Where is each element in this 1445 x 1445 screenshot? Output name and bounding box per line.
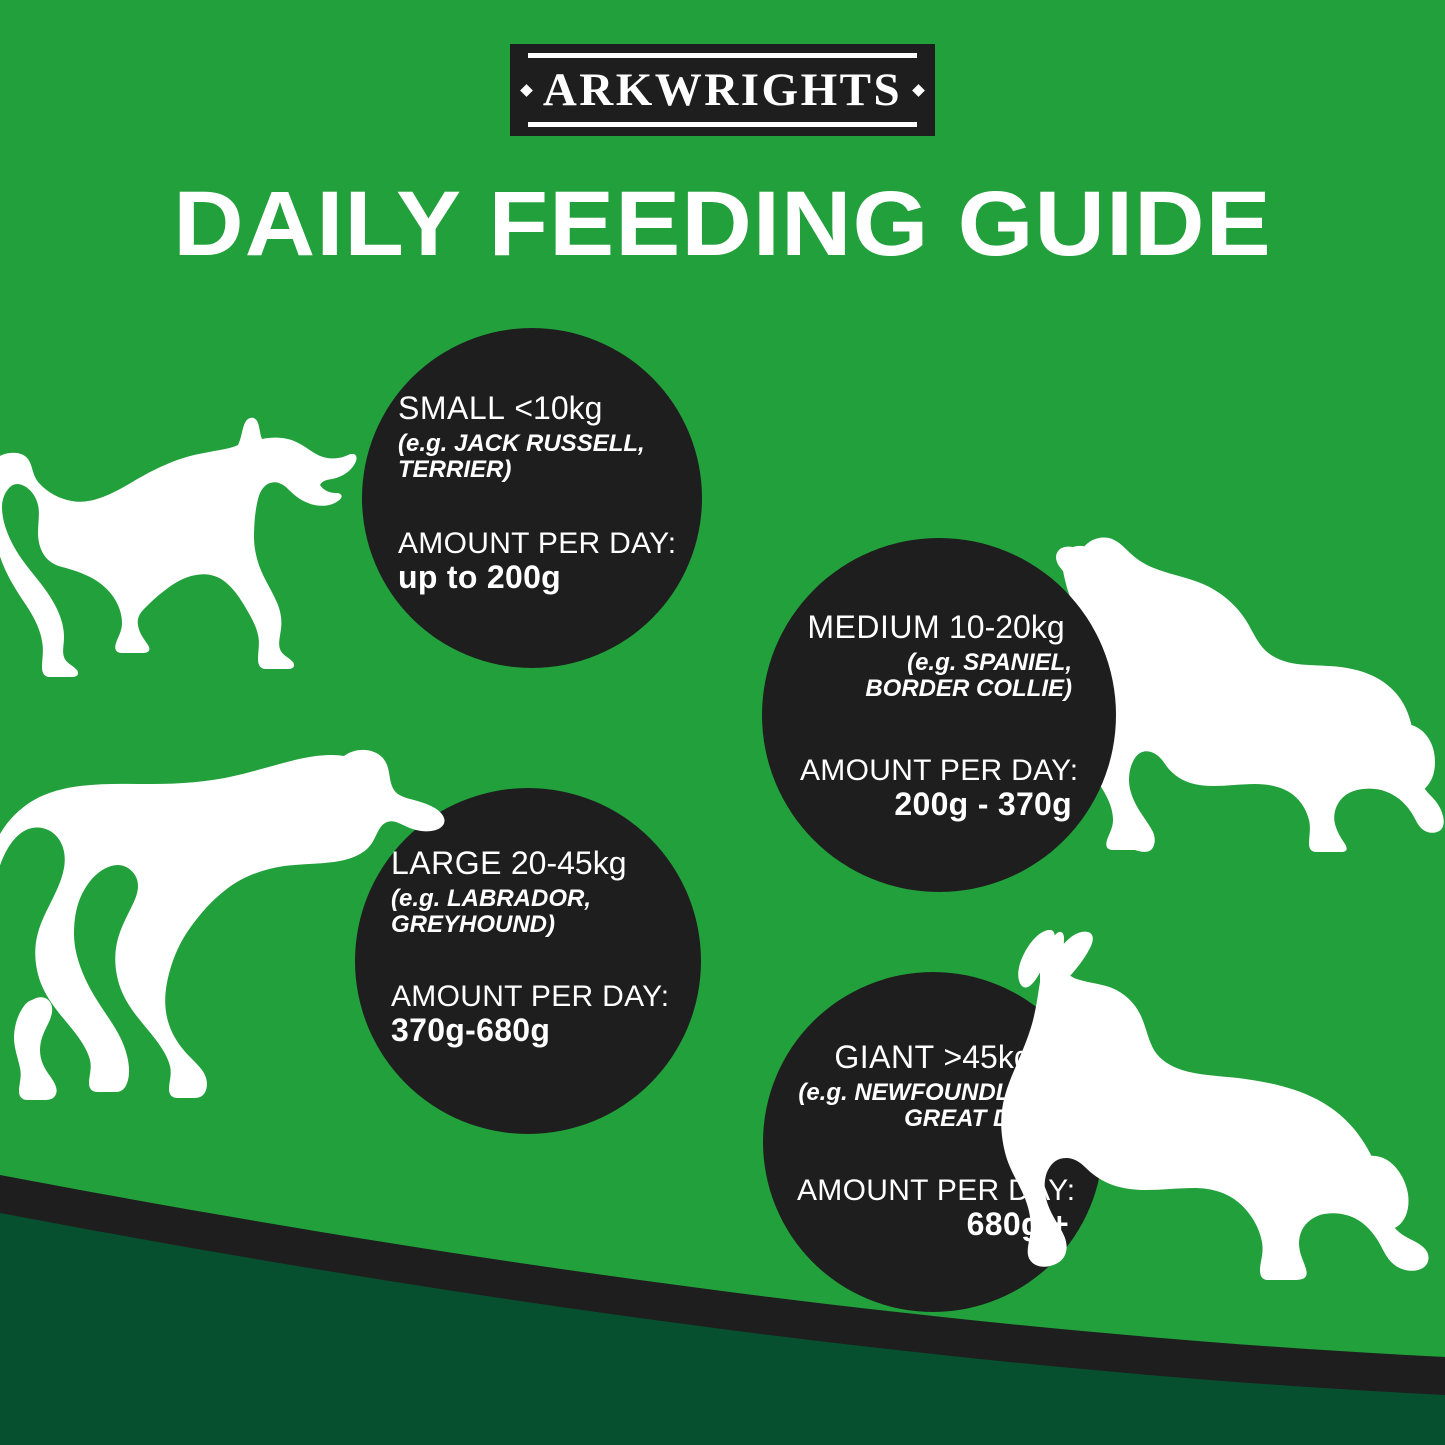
size-category-medium: MEDIUM 10-20kg (e.g. SPANIEL, BORDER COL… [762,538,1116,892]
diamond-bullet-left-icon [520,84,533,97]
size-heading-small: SMALL <10kg [398,391,676,426]
feeding-guide-poster: ARKWRIGHTS DAILY FEEDING GUIDE [0,0,1445,1445]
size-name-small: SMALL [398,390,505,426]
amount-value-small: up to 200g [398,560,676,595]
breed-examples-medium: (e.g. SPANIEL, BORDER COLLIE) [800,650,1072,704]
greyhound-silhouette-icon [0,748,458,1108]
page-title: DAILY FEEDING GUIDE [0,178,1445,270]
size-weight-small: <10kg [514,390,602,426]
size-weight-large: 20-45kg [511,845,627,881]
size-name-giant: GIANT [834,1039,934,1075]
great-dane-silhouette-icon [1000,930,1445,1280]
diamond-bullet-right-icon [912,84,925,97]
breed-examples-small: (e.g. JACK RUSSELL, TERRIER) [398,431,676,485]
brand-logo: ARKWRIGHTS [510,44,935,136]
size-name-medium: MEDIUM [807,609,940,645]
size-heading-medium: MEDIUM 10-20kg [800,610,1072,645]
amount-block-medium: AMOUNT PER DAY: 200g - 370g [800,755,1072,822]
logo-wordmark: ARKWRIGHTS [528,58,917,122]
amount-label-small: AMOUNT PER DAY: [398,528,676,560]
jack-russell-terrier-silhouette-icon [0,415,392,680]
amount-value-medium: 200g - 370g [800,787,1072,822]
brand-name: ARKWRIGHTS [543,67,902,114]
breed-examples-small-text: (e.g. JACK RUSSELL, TERRIER) [398,430,645,484]
logo-rule-bottom [528,122,917,127]
amount-block-small: AMOUNT PER DAY: up to 200g [398,528,676,595]
size-weight-medium: 10-20kg [949,609,1065,645]
size-category-small: SMALL <10kg (e.g. JACK RUSSELL, TERRIER)… [362,328,702,668]
amount-label-medium: AMOUNT PER DAY: [800,755,1072,787]
breed-examples-medium-text: (e.g. SPANIEL, BORDER COLLIE) [865,649,1072,703]
